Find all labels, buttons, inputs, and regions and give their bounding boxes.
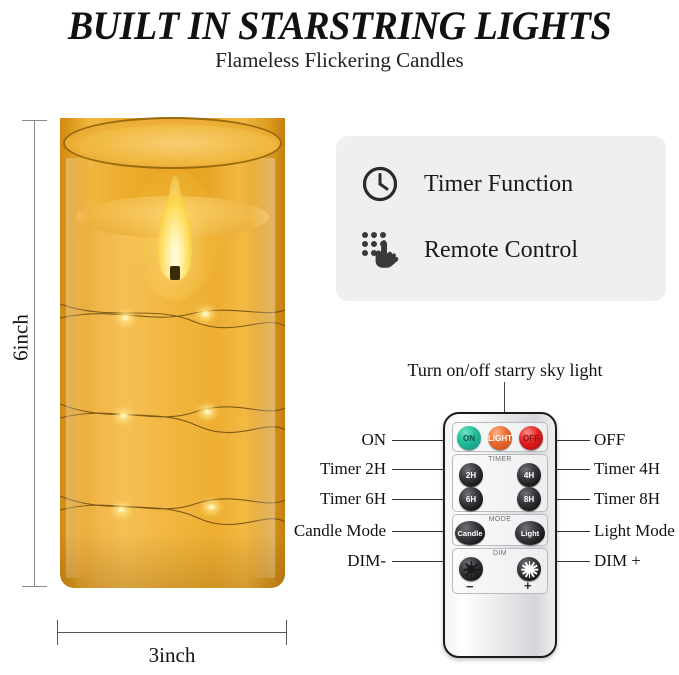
remote-hand-icon [358,228,402,272]
feature-item-timer: Timer Function [358,162,573,206]
height-dimension-cap-bottom [22,586,47,587]
candle-product-image [60,118,285,588]
remote-dim-minus-sign: − [466,579,474,594]
remote-button-off[interactable]: OFF [519,426,543,450]
candle-glass-rim [63,117,282,169]
height-dimension-label: 6inch [9,303,34,373]
remote-pad-dim: DIM [452,548,548,594]
remote-button-6h[interactable]: 6H [459,487,483,511]
callout-timer-4h: Timer 4H [594,459,660,479]
remote-starry-caption: Turn on/off starry sky light [360,360,650,381]
led-dot [206,503,217,511]
remote-pad-power: ON LIGHT OFF [452,422,548,452]
callout-leader-dim-minus [392,561,450,562]
remote-button-4h[interactable]: 4H [517,463,541,487]
infographic-canvas: BUILT IN STARSTRING LIGHTS Flameless Fli… [0,0,679,675]
led-dot [202,408,213,416]
callout-leader-on [392,440,450,441]
callout-dim-minus: DIM- [286,551,386,571]
callout-off: OFF [594,430,625,450]
remote-group-label-dim: DIM [453,550,547,557]
glass-highlight-right [249,158,275,578]
remote-button-8h[interactable]: 8H [517,487,541,511]
remote-pad-mode: MODE Candle Light [452,514,548,546]
width-dimension-cap-right [286,620,287,645]
candle-glass-rim-inner [77,125,278,165]
feature-label-timer: Timer Function [424,171,573,198]
sun-icon [521,561,538,578]
feature-callout-box: Timer Function Remote Control [336,136,666,301]
feature-label-remote: Remote Control [424,237,578,264]
remote-control[interactable]: ON LIGHT OFF TIMER 2H 4H 6H 8H MODE Cand… [443,412,557,658]
clock-icon [358,162,402,206]
remote-button-dim-minus[interactable] [459,557,483,581]
page-title: BUILT IN STARSTRING LIGHTS [17,2,662,49]
led-dot [116,506,127,514]
width-dimension-cap-left [57,620,58,645]
callout-light-mode: Light Mode [594,521,675,541]
callout-timer-6h: Timer 6H [266,489,386,509]
page-subtitle: Flameless Flickering Candles [0,48,679,73]
callout-leader-candle-mode [392,531,450,532]
callout-timer-8h: Timer 8H [594,489,660,509]
led-dot [120,314,131,322]
remote-group-label-timer: TIMER [453,456,547,463]
remote-pad-timer: TIMER 2H 4H 6H 8H [452,454,548,512]
sun-icon [463,561,480,578]
remote-button-on[interactable]: ON [457,426,481,450]
height-dimension-line [34,120,35,586]
candle-glass [60,118,285,588]
width-dimension-label: 3inch [57,643,287,668]
remote-button-light-mode[interactable]: Light [515,521,545,545]
callout-timer-2h: Timer 2H [266,459,386,479]
callout-leader-timer-6h [392,499,450,500]
callout-on: ON [306,430,386,450]
height-dimension-cap-top [22,120,47,121]
width-dimension-line [57,632,287,633]
glass-highlight-left [66,158,88,578]
callout-dim-plus: DIM + [594,551,641,571]
led-dot [200,310,211,318]
remote-button-candle-mode[interactable]: Candle [455,521,485,545]
remote-button-2h[interactable]: 2H [459,463,483,487]
led-dot [118,412,129,420]
remote-dim-plus-sign: + [524,578,532,593]
remote-button-light[interactable]: LIGHT [488,426,512,450]
callout-leader-timer-2h [392,469,450,470]
callout-candle-mode: Candle Mode [246,521,386,541]
feature-item-remote: Remote Control [358,228,578,272]
